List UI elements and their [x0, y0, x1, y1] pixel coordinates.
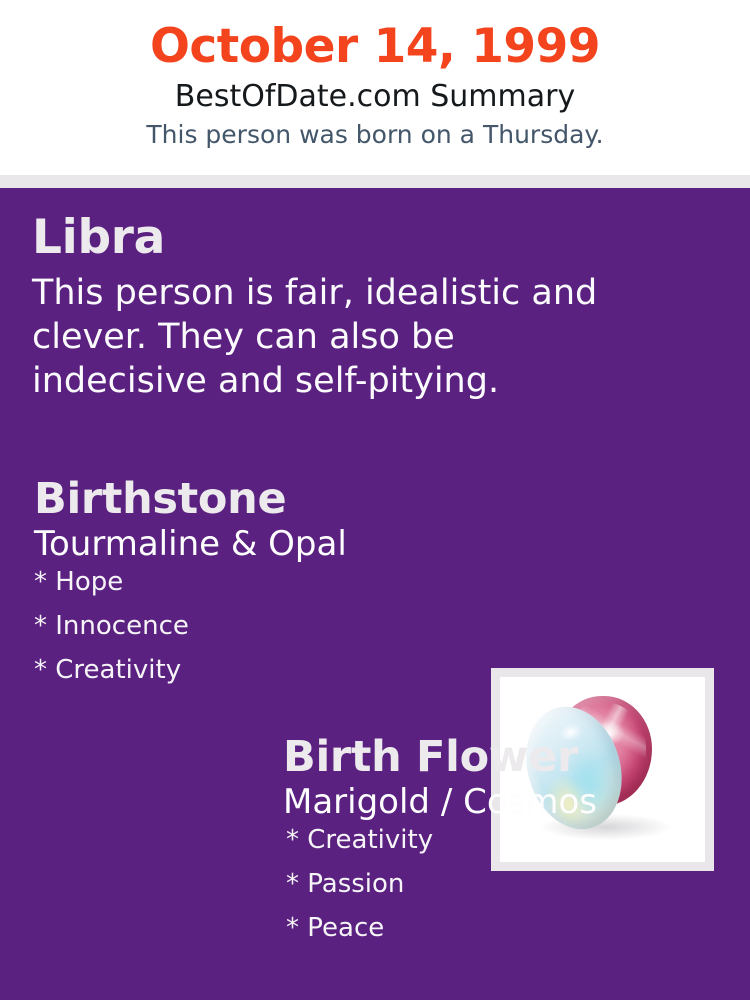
birthstone-section: Birthstone Tourmaline & Opal * Hope * In…	[0, 478, 750, 708]
header-divider	[0, 175, 750, 188]
birth-flower-names: Marigold / Cosmos	[283, 783, 743, 821]
list-item: * Peace	[286, 915, 743, 941]
page-title-date: October 14, 1999	[0, 22, 750, 73]
birthstone-text-block: Birthstone Tourmaline & Opal * Hope * In…	[34, 478, 474, 701]
list-item: * Hope	[34, 569, 474, 595]
birth-flower-title: Birth Flower	[283, 736, 743, 779]
zodiac-sign-name: Libra	[32, 214, 722, 261]
weekday-line: This person was born on a Thursday.	[0, 120, 750, 150]
poster-header: October 14, 1999 BestOfDate.com Summary …	[0, 0, 750, 175]
birthstone-title: Birthstone	[34, 478, 474, 521]
birth-flower-trait-list: * Creativity * Passion * Peace	[286, 827, 743, 941]
birth-flower-text-block: Birth Flower Marigold / Cosmos * Creativ…	[283, 736, 743, 959]
summary-body: Libra This person is fair, idealistic an…	[0, 188, 750, 1000]
birthstone-stone-names: Tourmaline & Opal	[34, 525, 474, 563]
site-subtitle: BestOfDate.com Summary	[0, 79, 750, 115]
zodiac-section: Libra This person is fair, idealistic an…	[32, 214, 722, 403]
list-item: * Creativity	[34, 657, 474, 683]
list-item: * Innocence	[34, 613, 474, 639]
birthstone-trait-list: * Hope * Innocence * Creativity	[34, 569, 474, 683]
list-item: * Creativity	[286, 827, 743, 853]
zodiac-description: This person is fair, idealistic and clev…	[32, 271, 602, 403]
list-item: * Passion	[286, 871, 743, 897]
date-summary-poster: October 14, 1999 BestOfDate.com Summary …	[0, 0, 750, 1000]
